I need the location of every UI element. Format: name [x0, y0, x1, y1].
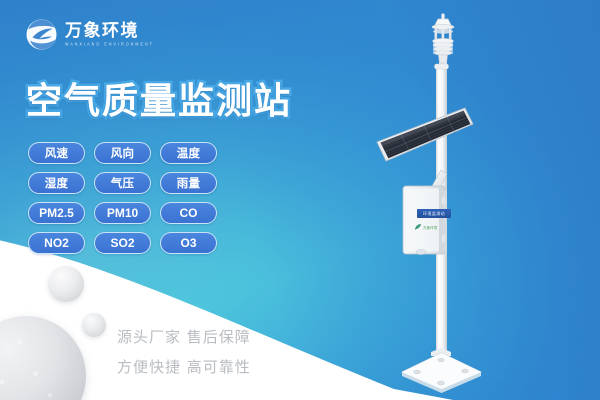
- pill-row: NO2 SO2 O3: [28, 232, 217, 254]
- globe-swoosh-logo-icon: [24, 17, 59, 52]
- tagline-line-1: 源头厂家 售后保障: [117, 326, 251, 347]
- decorative-sphere-medium: [48, 266, 84, 302]
- brand-name-en: WANXIANG ENVIRONMENT: [65, 43, 154, 47]
- feature-pill[interactable]: 风向: [94, 142, 151, 164]
- promo-banner: 万象环境 WANXIANG ENVIRONMENT 空气质量监测站 空气质量监测…: [0, 0, 600, 400]
- tagline-line-2: 方便快捷 高可靠性: [117, 356, 251, 377]
- feature-pill[interactable]: PM2.5: [28, 202, 85, 224]
- tagline-block: 源头厂家 售后保障 方便快捷 高可靠性: [117, 326, 251, 377]
- feature-pill[interactable]: SO2: [94, 232, 151, 254]
- feature-pill[interactable]: 气压: [94, 172, 151, 194]
- decorative-sphere-large: [0, 316, 86, 400]
- feature-pill[interactable]: 风速: [28, 142, 85, 164]
- feature-pill[interactable]: CO: [160, 202, 217, 224]
- solar-panel-icon: [377, 108, 473, 194]
- ultrasonic-weather-sensor-icon: [432, 14, 454, 67]
- enclosure-brand-text: 万象环境: [423, 225, 437, 230]
- feature-pill-grid: 风速 风向 温度 湿度 气压 雨量 PM2.5 PM10 CO NO2 SO2 …: [28, 142, 217, 254]
- decorative-sphere-small: [82, 313, 106, 337]
- pill-row: 风速 风向 温度: [28, 142, 217, 164]
- enclosure-label-text: 环境监测站: [423, 211, 445, 217]
- feature-pill[interactable]: 湿度: [28, 172, 85, 194]
- feature-pill[interactable]: 温度: [160, 142, 217, 164]
- control-box-icon: [403, 186, 447, 255]
- pill-row: 湿度 气压 雨量: [28, 172, 217, 194]
- feature-pill[interactable]: 雨量: [160, 172, 217, 194]
- page-title-stroke: 空气质量监测站: [26, 72, 292, 124]
- background-right-tint: [228, 0, 600, 400]
- pill-row: PM2.5 PM10 CO: [28, 202, 217, 224]
- feature-pill[interactable]: NO2: [28, 232, 85, 254]
- enclosure-brand-mark: 万象环境: [414, 222, 444, 232]
- feature-pill[interactable]: PM10: [94, 202, 151, 224]
- feature-pill[interactable]: O3: [160, 232, 217, 254]
- brand-logo-text: 万象环境 WANXIANG ENVIRONMENT: [65, 23, 154, 47]
- brand-name-cn: 万象环境: [65, 23, 154, 40]
- brand-logo: 万象环境 WANXIANG ENVIRONMENT: [24, 17, 154, 52]
- monitoring-station-artwork: [355, 0, 600, 400]
- base-plate-icon: [402, 348, 481, 393]
- enclosure-leaf-icon: [414, 223, 422, 231]
- enclosure-label-plate: 环境监测站: [417, 209, 451, 218]
